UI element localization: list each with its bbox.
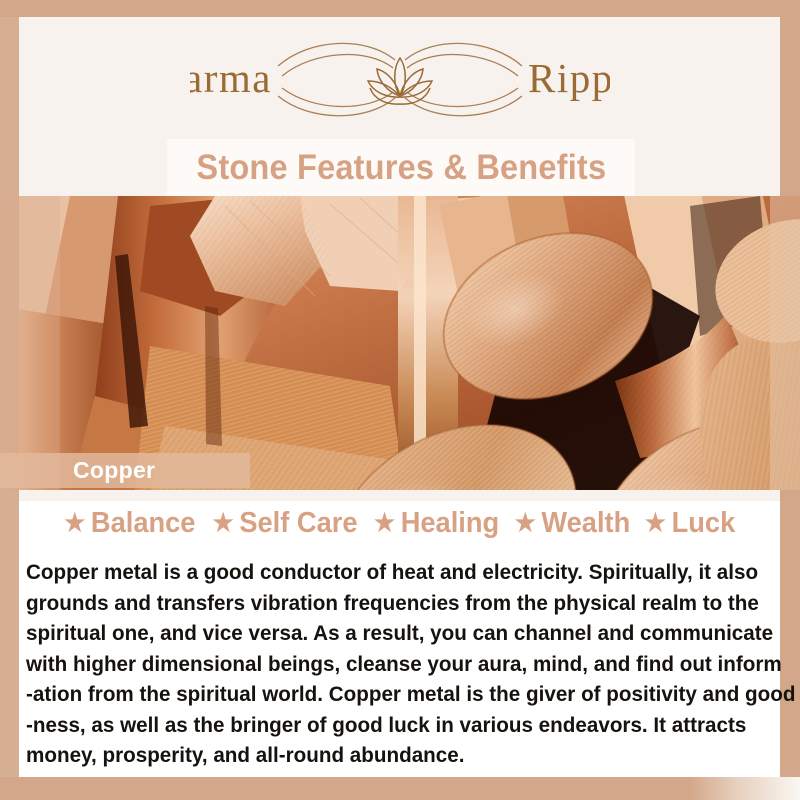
- brand-name-right: Ripple: [528, 55, 610, 101]
- benefits-list: ★ Balance ★ Self Care ★ Healing ★ Wealth…: [19, 507, 780, 540]
- copper-rods-photo-graphic: [0, 196, 800, 490]
- description-text: Copper metal is a good conductor of heat…: [26, 557, 748, 771]
- benefit-item-self-care: ★ Self Care: [209, 507, 361, 540]
- photo-caption-label: Copper: [73, 457, 155, 484]
- brand-logo: Karma Ripple: [19, 23, 780, 133]
- page-title: Stone Features & Benefits: [196, 148, 606, 188]
- benefit-label-self-care: Self Care: [239, 507, 361, 540]
- brand-name-left: Karma: [190, 55, 272, 101]
- lotus-icon: [368, 58, 432, 104]
- star-icon: ★: [645, 511, 666, 536]
- star-icon: ★: [65, 511, 86, 536]
- description-line: -ness, as well as the bringer of good lu…: [26, 710, 748, 741]
- benefit-item-balance: ★ Balance: [61, 507, 200, 540]
- header: Karma Ripple: [19, 17, 780, 140]
- photo-caption-bar: Copper: [0, 453, 250, 488]
- description-line: money, prosperity, and all-round abundan…: [26, 740, 748, 771]
- frame-border-top: [0, 0, 800, 17]
- title-band: Stone Features & Benefits: [168, 140, 634, 196]
- description-line: Copper metal is a good conductor of heat…: [26, 557, 748, 588]
- star-icon: ★: [374, 511, 395, 536]
- benefit-item-healing: ★ Healing: [371, 507, 504, 540]
- description-line: spiritual one, and vice versa. As a resu…: [26, 618, 748, 649]
- benefit-label-luck: Luck: [672, 507, 739, 540]
- frame-border-bottom-fade: [690, 777, 800, 800]
- copper-rods-photo: Copper: [0, 196, 800, 490]
- benefit-label-wealth: Wealth: [542, 507, 635, 540]
- description-line: grounds and transfers vibration frequenc…: [26, 588, 748, 619]
- description-line: with higher dimensional beings, cleanse …: [26, 649, 748, 680]
- star-icon: ★: [213, 511, 234, 536]
- benefit-item-luck: ★ Luck: [642, 507, 740, 540]
- frame-border-bottom: [0, 777, 700, 800]
- brand-logo-graphic: Karma Ripple: [190, 26, 610, 130]
- benefit-item-wealth: ★ Wealth: [511, 507, 634, 540]
- description-line: -ation from the spiritual world. Copper …: [26, 679, 748, 710]
- benefit-label-balance: Balance: [91, 507, 199, 540]
- photo-content-divider: [19, 490, 780, 501]
- product-infographic-card: Karma Ripple Stone Features & Benefits: [0, 0, 800, 800]
- content-panel: ★ Balance ★ Self Care ★ Healing ★ Wealth…: [19, 501, 780, 777]
- benefit-label-healing: Healing: [401, 507, 503, 540]
- star-icon: ★: [515, 511, 536, 536]
